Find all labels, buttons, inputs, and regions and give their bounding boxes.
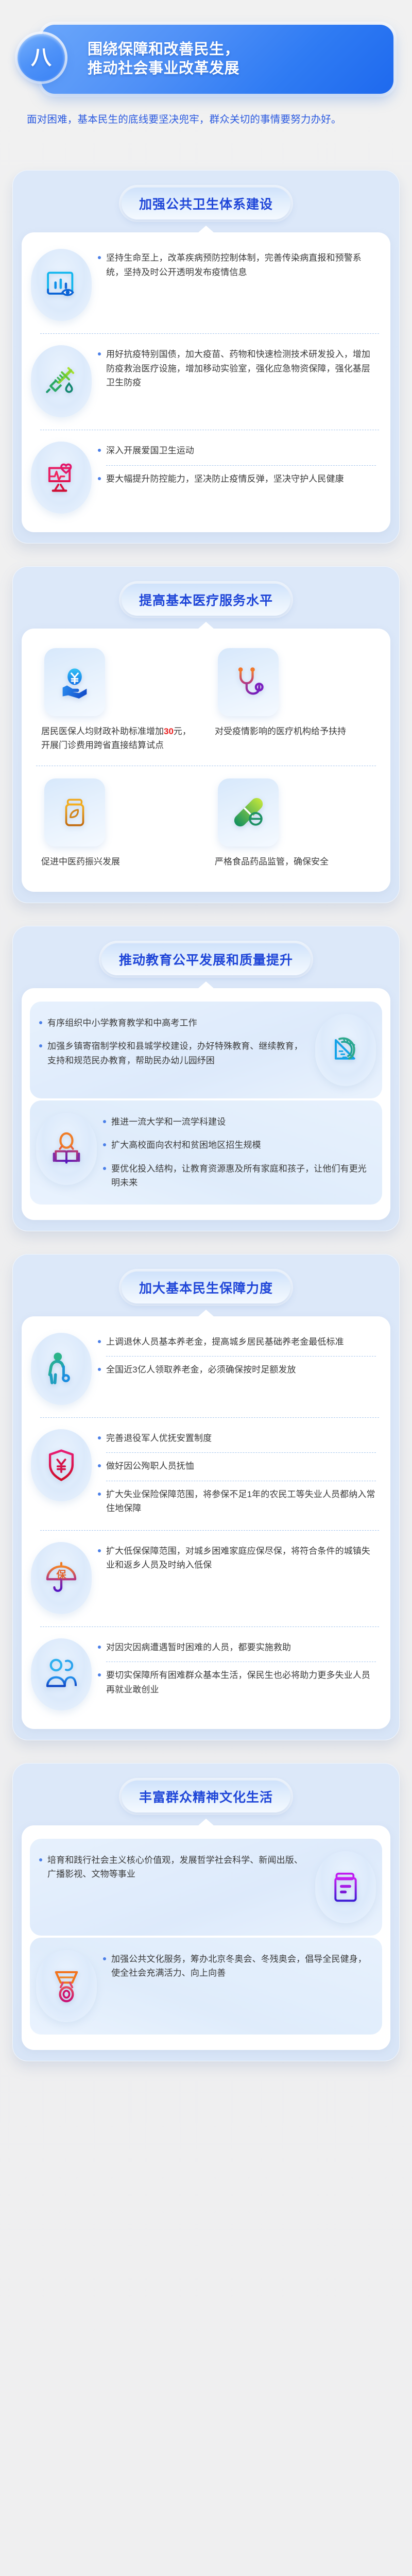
section-number-badge: 八 bbox=[18, 34, 65, 81]
section-title-wrap: 丰富群众精神文化生活 bbox=[22, 1781, 390, 1812]
culture-subcard: 培育和践行社会主义核心价值观，发展哲学社会科学、新闻出版、广播影视、文物等事业 bbox=[30, 1839, 382, 1936]
section-body: 培育和践行社会主义核心价值观，发展哲学社会科学、新闻出版、广播影视、文物等事业 bbox=[22, 1825, 390, 2050]
section-notch bbox=[198, 226, 214, 233]
stethoscope-icon bbox=[218, 648, 279, 716]
content-row: 保 扩大低保保障范围，对城乡困难家庭应保尽保，将符合条件的城镇失业和返乡人员及时… bbox=[30, 1537, 382, 1619]
bullet-item: 做好因公殉职人员抚恤 bbox=[96, 1459, 379, 1473]
bullet-item: 坚持生命至上，改革疾病预防控制体制，完善传染病直报和预警系统，坚持及时公开透明发… bbox=[96, 251, 379, 279]
row-text: 深入开展爱国卫生运动 要大幅提升防控能力，坚决防止疫情反弹，坚决守护人民健康 bbox=[95, 442, 381, 488]
tile-text-before: 严格食品药品监管，确保安全 bbox=[215, 857, 329, 867]
tile-text: 居民医保人均财政补助标准增加30元，开展门诊费用跨省直接结算试点 bbox=[39, 724, 199, 752]
bullet-item: 全国近3亿人领取养老金，必须确保按时足额发放 bbox=[96, 1363, 379, 1377]
reading-person-book-icon bbox=[36, 1113, 97, 1185]
page-title-line2: 推动社会事业改革发展 bbox=[88, 59, 239, 78]
bullet-item: 加强公共文化服务，筹办北京冬奥会、冬残奥会，倡导全民健身，使全社会充满活力、向上… bbox=[101, 1952, 374, 1980]
heart-monitor-icon bbox=[31, 442, 92, 514]
capsule-pill-icon bbox=[218, 778, 279, 846]
row-divider bbox=[40, 1626, 379, 1627]
content-row: 有序组织中小学教育教学和中高考工作 加强乡镇寄宿制学校和县城学校建设，办好特殊教… bbox=[35, 1009, 377, 1091]
tile-highlight: 30 bbox=[164, 726, 174, 736]
tile-text-before: 促进中医药振兴发展 bbox=[41, 857, 120, 867]
section-notch bbox=[198, 981, 214, 989]
tile-grid: 居民医保人均财政补助标准增加30元，开展门诊费用跨省直接结算试点 bbox=[30, 640, 382, 878]
grid-divider bbox=[36, 766, 376, 766]
section-title-wrap: 推动教育公平发展和质量提升 bbox=[22, 943, 390, 975]
syringe-vaccine-icon bbox=[31, 345, 92, 417]
section-title: 丰富群众精神文化生活 bbox=[122, 1781, 290, 1812]
section-body: 上调退休人员基本养老金，提高城乡居民基础养老金最低标准 全国近3亿人领取养老金，… bbox=[22, 1316, 390, 1729]
hand-yuan-coin-icon bbox=[44, 648, 105, 716]
education-subcard: 有序组织中小学教育教学和中高考工作 加强乡镇寄宿制学校和县城学校建设，办好特殊教… bbox=[30, 1002, 382, 1098]
content-row: 对因灾因病遭遇暂时困难的人员，都要实施救助 要切实保障所有困难群众基本生活，保民… bbox=[30, 1633, 382, 1716]
tile-text: 促进中医药振兴发展 bbox=[39, 855, 199, 869]
section-medical-service: 提高基本医疗服务水平 bbox=[12, 566, 400, 903]
svg-text:保: 保 bbox=[56, 1569, 66, 1581]
section-body: 有序组织中小学教育教学和中高考工作 加强乡镇寄宿制学校和县城学校建设，办好特殊教… bbox=[22, 988, 390, 1220]
header-banner: 围绕保障和改善民生， 推动社会事业改革发展 bbox=[41, 25, 393, 94]
bullet-item: 上调退休人员基本养老金，提高城乡居民基础养老金最低标准 bbox=[96, 1335, 379, 1349]
row-divider bbox=[106, 1481, 376, 1481]
row-divider bbox=[40, 430, 379, 430]
page-title-line1: 围绕保障和改善民生， bbox=[88, 40, 239, 59]
content-row: 完善退役军人优抚安置制度 做好因公殉职人员抚恤 扩大失业保险保障范围，将参保不足… bbox=[30, 1424, 382, 1523]
page-title: 围绕保障和改善民生， 推动社会事业改革发展 bbox=[88, 40, 239, 78]
infographic-page: 八 围绕保障和改善民生， 推动社会事业改革发展 面对困难，基本民生的底线要坚决兜… bbox=[0, 0, 412, 2576]
tile-item: 严格食品药品监管，确保安全 bbox=[209, 773, 377, 876]
content-row: 加强公共文化服务，筹办北京冬奥会、冬残奥会，倡导全民健身，使全社会充满活力、向上… bbox=[35, 1945, 377, 2027]
section-title: 加大基本民生保障力度 bbox=[122, 1272, 290, 1303]
row-text: 加强公共文化服务，筹办北京冬奥会、冬残奥会，倡导全民健身，使全社会充满活力、向上… bbox=[100, 1950, 376, 1982]
section-body: 坚持生命至上，改革疾病预防控制体制，完善传染病直报和预警系统，坚持及时公开透明发… bbox=[22, 232, 390, 532]
section-education: 推动教育公平发展和质量提升 有序组织中小学教 bbox=[12, 926, 400, 1231]
row-text: 培育和践行社会主义核心价值观，发展哲学社会科学、新闻出版、广播影视、文物等事业 bbox=[36, 1851, 312, 1884]
section-culture-life: 丰富群众精神文化生活 bbox=[12, 1763, 400, 2061]
content-row: 上调退休人员基本养老金，提高城乡居民基础养老金最低标准 全国近3亿人领取养老金，… bbox=[30, 1328, 382, 1410]
row-divider bbox=[40, 333, 379, 334]
section-title-wrap: 提高基本医疗服务水平 bbox=[22, 584, 390, 616]
row-text: 完善退役军人优抚安置制度 做好因公殉职人员抚恤 扩大失业保险保障范围，将参保不足… bbox=[95, 1429, 381, 1518]
section-notch bbox=[198, 1310, 214, 1317]
section-notch bbox=[198, 622, 214, 629]
section-title-wrap: 加大基本民生保障力度 bbox=[22, 1272, 390, 1303]
book-document-icon bbox=[315, 1851, 376, 1923]
bullet-item: 完善退役军人优抚安置制度 bbox=[96, 1431, 379, 1446]
row-divider bbox=[40, 1417, 379, 1418]
tile-item: 对受疫情影响的医疗机构给予扶持 bbox=[209, 643, 377, 759]
row-text: 有序组织中小学教育教学和中高考工作 加强乡镇寄宿制学校和县城学校建设，办好特殊教… bbox=[36, 1014, 312, 1070]
row-text: 推进一流大学和一流学科建设 扩大高校面向农村和贫困地区招生规模 要优化投入结构，… bbox=[100, 1113, 376, 1192]
row-divider bbox=[106, 465, 376, 466]
two-people-icon bbox=[31, 1638, 92, 1710]
education-subcard: 推进一流大学和一流学科建设 扩大高校面向农村和贫困地区招生规模 要优化投入结构，… bbox=[30, 1100, 382, 1205]
shield-yuan-icon bbox=[31, 1429, 92, 1501]
row-divider bbox=[40, 1530, 379, 1531]
row-text: 坚持生命至上，改革疾病预防控制体制，完善传染病直报和预警系统，坚持及时公开透明发… bbox=[95, 249, 381, 281]
bullet-item: 扩大高校面向农村和贫困地区招生规模 bbox=[101, 1138, 374, 1153]
culture-subcard: 加强公共文化服务，筹办北京冬奥会、冬残奥会，倡导全民健身，使全社会充满活力、向上… bbox=[30, 1938, 382, 2035]
bullet-item: 培育和践行社会主义核心价值观，发展哲学社会科学、新闻出版、广播影视、文物等事业 bbox=[37, 1853, 310, 1882]
content-row: 培育和践行社会主义核心价值观，发展哲学社会科学、新闻出版、广播影视、文物等事业 bbox=[35, 1846, 377, 1928]
tile-item: 促进中医药振兴发展 bbox=[35, 773, 203, 876]
row-text: 扩大低保保障范围，对城乡困难家庭应保尽保，将符合条件的城镇失业和返乡人员及时纳入… bbox=[95, 1542, 381, 1574]
row-divider bbox=[106, 1452, 376, 1453]
bullet-item: 扩大失业保险保障范围，将参保不足1年的农民工等失业人员都纳入常住地保障 bbox=[96, 1487, 379, 1516]
row-divider bbox=[106, 1662, 376, 1662]
tile-text-before: 居民医保人均财政补助标准增加 bbox=[41, 726, 164, 736]
intro-paragraph: 面对困难，基本民生的底线要坚决兜牢，群众关切的事情要努力办好。 bbox=[27, 111, 385, 128]
section-title: 提高基本医疗服务水平 bbox=[122, 584, 290, 616]
content-row: 推进一流大学和一流学科建设 扩大高校面向农村和贫困地区招生规模 要优化投入结构，… bbox=[35, 1108, 377, 1197]
bullet-item: 有序组织中小学教育教学和中高考工作 bbox=[37, 1016, 310, 1030]
section-title: 推动教育公平发展和质量提升 bbox=[101, 943, 311, 975]
bullet-item: 用好抗疫特别国债，加大疫苗、药物和快速检测技术研发投入，增加防疫救治医疗设施，增… bbox=[96, 347, 379, 390]
section-body: 居民医保人均财政补助标准增加30元，开展门诊费用跨省直接结算试点 bbox=[22, 629, 390, 892]
umbrella-bao-icon: 保 bbox=[31, 1542, 92, 1614]
herb-medicine-bottle-icon bbox=[44, 778, 105, 846]
content-row: 坚持生命至上，改革疾病预防控制体制，完善传染病直报和预警系统，坚持及时公开透明发… bbox=[30, 244, 382, 326]
bullet-item: 加强乡镇寄宿制学校和县城学校建设，办好特殊教育、继续教育，支持和规范民办教育，帮… bbox=[37, 1039, 310, 1067]
row-text: 对因灾因病遭遇暂时困难的人员，都要实施救助 要切实保障所有困难群众基本生活，保民… bbox=[95, 1638, 381, 1699]
section-title: 加强公共卫生体系建设 bbox=[122, 188, 290, 219]
bullet-item: 对因灾因病遭遇暂时困难的人员，都要实施救助 bbox=[96, 1640, 379, 1655]
badge-label: 八 bbox=[31, 47, 51, 68]
row-text: 用好抗疫特别国债，加大疫苗、药物和快速检测技术研发投入，增加防疫救治医疗设施，增… bbox=[95, 345, 381, 392]
bullet-item: 深入开展爱国卫生运动 bbox=[96, 444, 379, 458]
medal-award-icon bbox=[36, 1950, 97, 2022]
content-row: 深入开展爱国卫生运动 要大幅提升防控能力，坚决防止疫情反弹，坚决守护人民健康 bbox=[30, 436, 382, 519]
tile-text: 严格食品药品监管，确保安全 bbox=[213, 855, 373, 869]
page-header: 八 围绕保障和改善民生， 推动社会事业改革发展 面对困难，基本民生的底线要坚决兜… bbox=[0, 0, 412, 170]
tile-text-before: 对受疫情影响的医疗机构给予扶持 bbox=[215, 726, 346, 736]
row-text: 上调退休人员基本养老金，提高城乡居民基础养老金最低标准 全国近3亿人领取养老金，… bbox=[95, 1333, 381, 1379]
row-divider bbox=[106, 1356, 376, 1357]
content-row: 用好抗疫特别国债，加大疫苗、药物和快速检测技术研发投入，增加防疫救治医疗设施，增… bbox=[30, 340, 382, 422]
section-livelihood-security: 加大基本民生保障力度 上调退休人员基本养老金，提高城乡居民基础养老金最低标准 bbox=[12, 1254, 400, 1740]
bullet-item: 扩大低保保障范围，对城乡困难家庭应保尽保，将符合条件的城镇失业和返乡人员及时纳入… bbox=[96, 1544, 379, 1572]
section-notch bbox=[198, 1819, 214, 1826]
bullet-item: 要大幅提升防控能力，坚决防止疫情反弹，坚决守护人民健康 bbox=[96, 472, 379, 486]
tile-text: 对受疫情影响的医疗机构给予扶持 bbox=[213, 724, 373, 738]
bullet-item: 要优化投入结构，让教育资源惠及所有家庭和孩子，让他们有更光明未来 bbox=[101, 1162, 374, 1190]
tile-item: 居民医保人均财政补助标准增加30元，开展门诊费用跨省直接结算试点 bbox=[35, 643, 203, 759]
elderly-cane-icon bbox=[31, 1333, 92, 1405]
section-public-health: 加强公共卫生体系建设 坚持生命至上，改革疾病预防控制体 bbox=[12, 170, 400, 544]
bullet-item: 推进一流大学和一流学科建设 bbox=[101, 1115, 374, 1129]
monitor-chart-eye-icon bbox=[31, 249, 92, 321]
bullet-item: 要切实保障所有困难群众基本生活，保民生也必将助力更多失业人员再就业敢创业 bbox=[96, 1668, 379, 1697]
ruler-protractor-icon bbox=[315, 1014, 376, 1086]
section-title-wrap: 加强公共卫生体系建设 bbox=[22, 188, 390, 219]
